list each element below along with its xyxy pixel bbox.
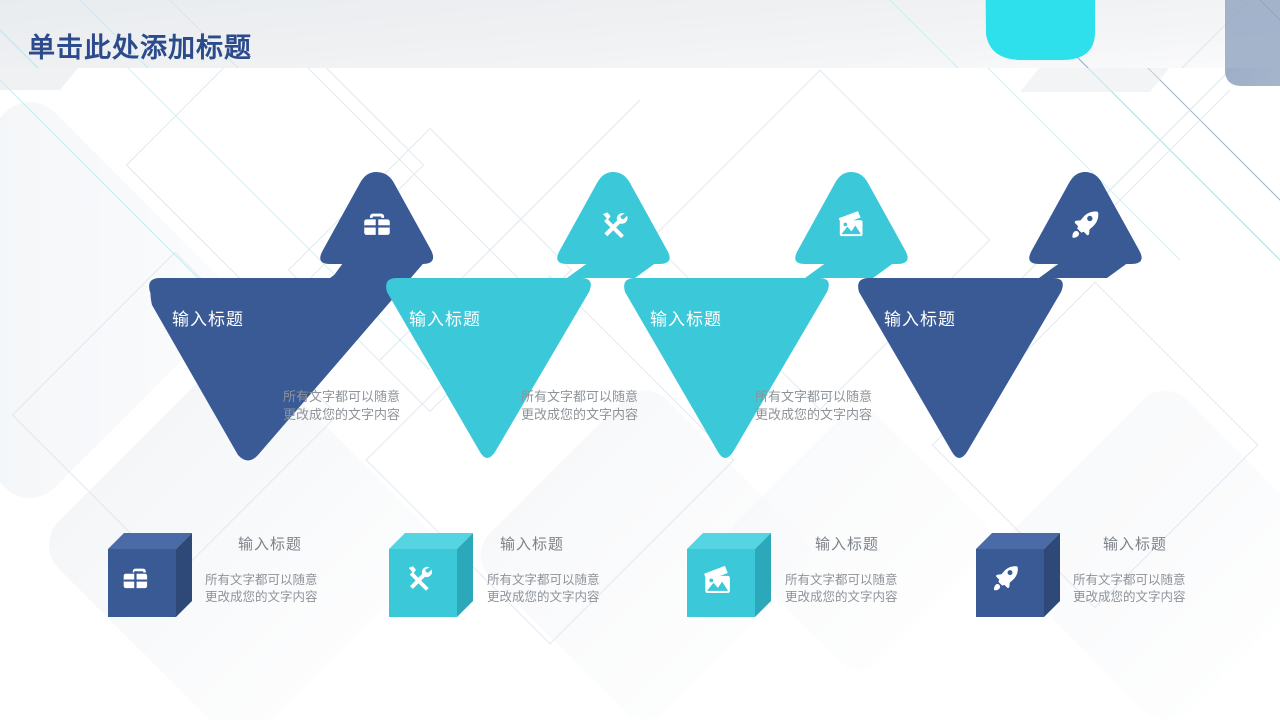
card-2[interactable] (385, 529, 473, 622)
chevron-desc-2-line2: 更改成您的文字内容 (521, 406, 638, 424)
chevron-title-4: 输入标题 (884, 305, 956, 330)
chevron-title-2: 输入标题 (409, 305, 481, 330)
chevron-desc-3-line2: 更改成您的文字内容 (755, 406, 872, 424)
chevron-desc-1: 所有文字都可以随意 更改成您的文字内容 (283, 388, 400, 424)
page-title: 单击此处添加标题 (28, 26, 252, 65)
card-3-cube (683, 529, 771, 617)
chevron-desc-3-line1: 所有文字都可以随意 (755, 388, 872, 406)
card-2-cube (385, 529, 473, 617)
chevron-group-row: 输入标题 所有文字都可以随意 更改成您的文字内容 输入标题 所有文字都可以随意 … (0, 0, 1280, 720)
chevron-desc-1-line1: 所有文字都可以随意 (283, 388, 400, 406)
chevron-desc-2-line1: 所有文字都可以随意 (521, 388, 638, 406)
card-4[interactable] (972, 529, 1060, 622)
chevron-desc-3: 所有文字都可以随意 更改成您的文字内容 (755, 388, 872, 424)
chevron-title-1: 输入标题 (172, 305, 244, 330)
briefcase-icon (360, 208, 394, 247)
card-4-cube (972, 529, 1060, 617)
rocket-icon (1068, 208, 1102, 247)
image-icon (834, 208, 870, 247)
card-3[interactable] (683, 529, 771, 622)
slide-header: 单击此处添加标题 (0, 0, 1280, 68)
chevron-title-3: 输入标题 (650, 305, 722, 330)
chevron-desc-1-line2: 更改成您的文字内容 (283, 406, 400, 424)
tools-icon (597, 209, 631, 248)
chevron-desc-2: 所有文字都可以随意 更改成您的文字内容 (521, 388, 638, 424)
card-1[interactable] (104, 529, 192, 622)
card-1-cube (104, 529, 192, 617)
